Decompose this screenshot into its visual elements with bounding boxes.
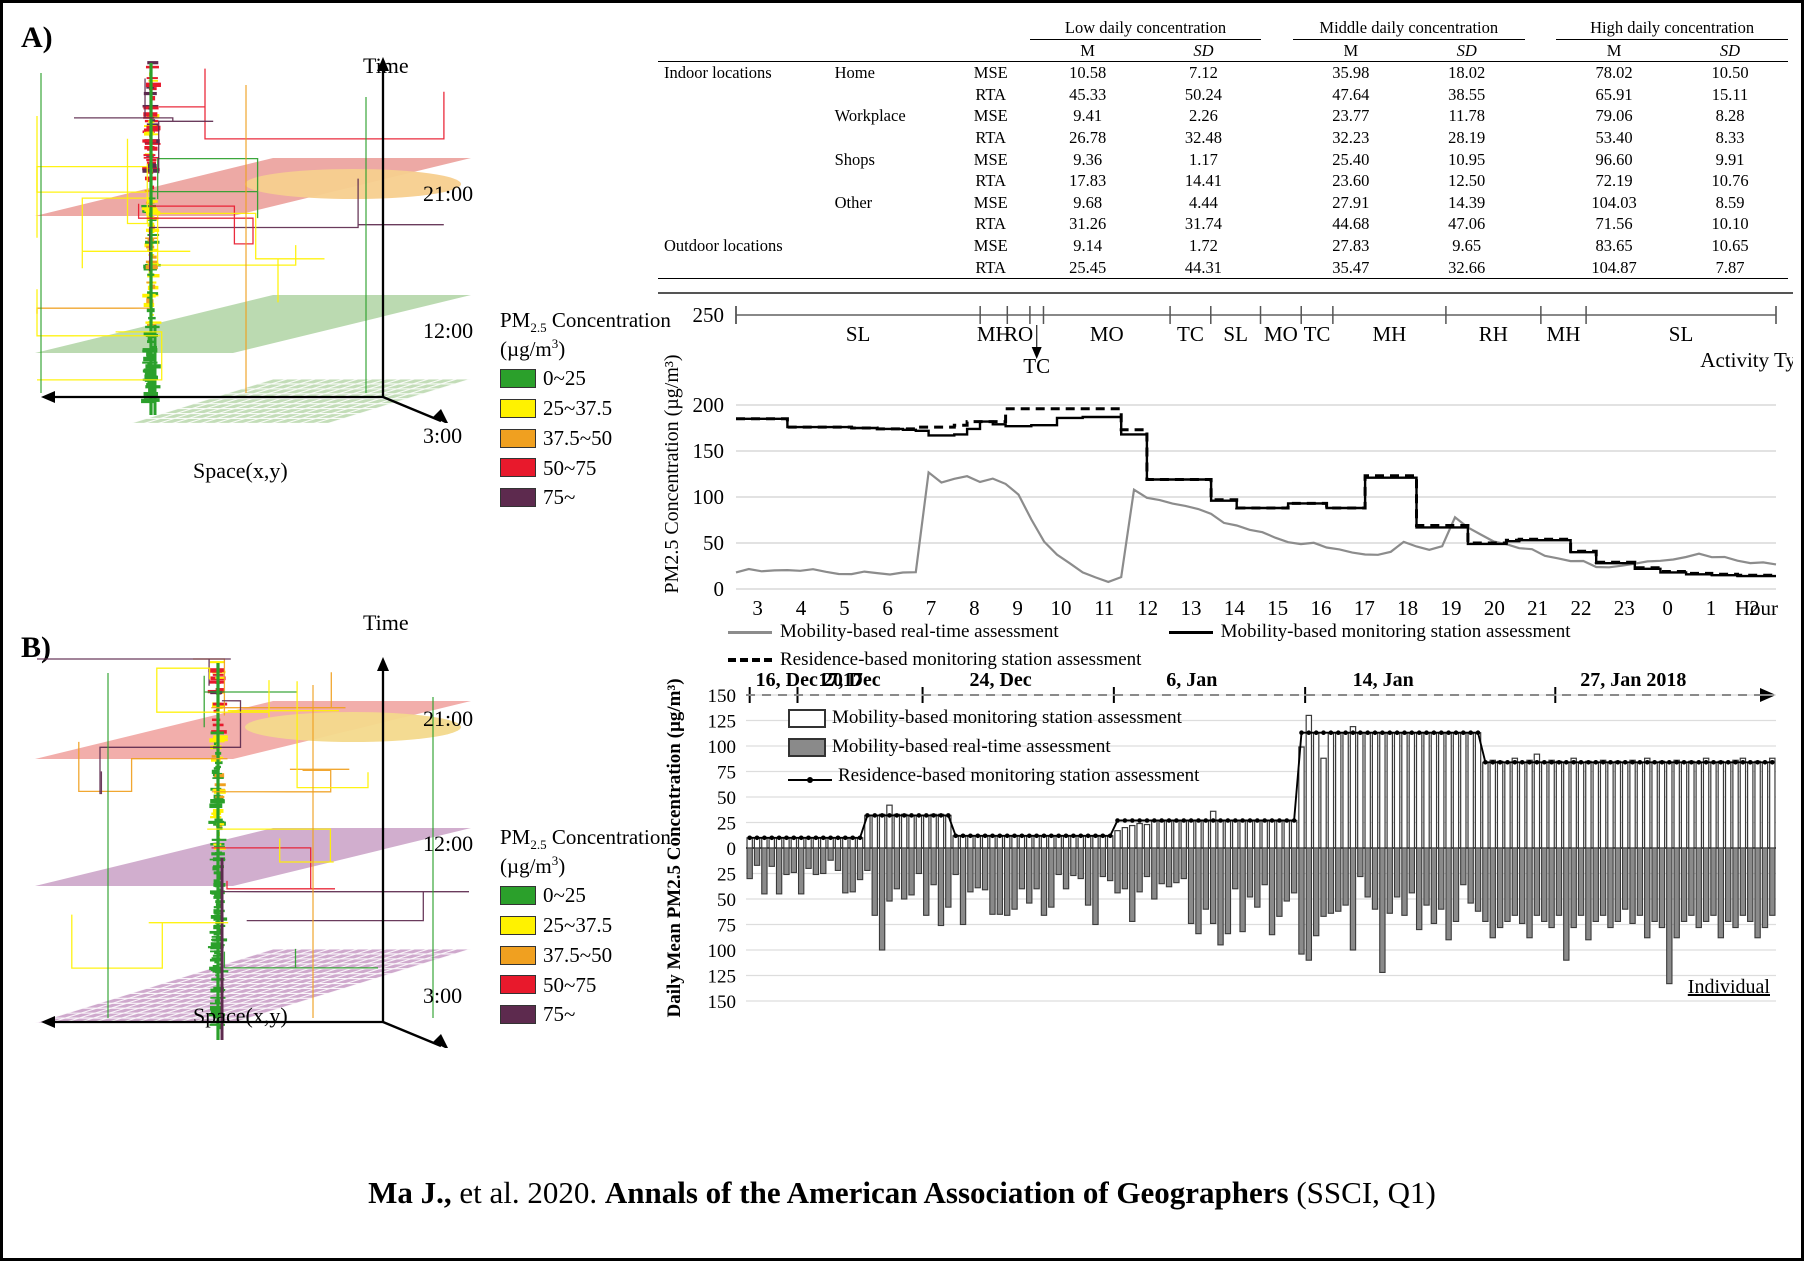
bar-monitoring-station	[1755, 761, 1760, 848]
residence-dot	[1446, 730, 1451, 735]
legend-swatch-black-line	[1169, 631, 1213, 634]
bar-real-time	[806, 848, 811, 868]
bar-real-time	[1424, 848, 1429, 905]
table-row: RTA26.7832.4832.2328.1953.408.33	[658, 127, 1788, 149]
legend-item-bar-residence: Residence-based monitoring station asses…	[788, 765, 1199, 787]
residence-dot	[1719, 760, 1724, 765]
table-cell-location: Shops	[829, 149, 952, 171]
bar-monitoring-station	[1497, 761, 1502, 848]
table-subheader: SD	[1146, 39, 1262, 62]
bar-monitoring-station	[1674, 760, 1679, 848]
bar-monitoring-station	[1696, 762, 1701, 848]
table-row: RTA25.4544.3135.4732.66104.877.87	[658, 257, 1788, 279]
table-cell-category: Outdoor locations	[658, 235, 829, 257]
bar-real-time	[1431, 848, 1436, 923]
table-cell-value: 9.14	[1030, 235, 1146, 257]
residence-dot	[1285, 818, 1290, 823]
bar-real-time	[1108, 848, 1113, 881]
bar-chart-ytick-top: 75	[717, 763, 736, 784]
table-cell-value: 10.50	[1672, 62, 1788, 84]
table-cell-value: 10.95	[1409, 149, 1525, 171]
bar-real-time	[1343, 848, 1348, 905]
table-cell-method: RTA	[952, 257, 1030, 279]
bar-chart-ytick-bottom: 75	[717, 916, 736, 937]
bar-real-time	[1269, 848, 1274, 935]
bar-monitoring-station	[1748, 762, 1753, 848]
residence-dot	[1351, 730, 1356, 735]
residence-dot	[1755, 760, 1760, 765]
legend-swatch-dashed-line	[728, 658, 772, 662]
bar-real-time	[1166, 848, 1171, 887]
residence-dot	[1557, 760, 1562, 765]
pm-legend-swatch-4	[500, 1005, 536, 1024]
bar-chart-date-label: 14, Jan	[1353, 671, 1414, 691]
bar-real-time	[821, 848, 826, 874]
residence-dot	[1586, 760, 1591, 765]
caption-year: et al. 2020.	[452, 1175, 605, 1210]
residence-dot	[799, 836, 804, 841]
table-cell-value: 28.19	[1409, 127, 1525, 149]
bar-chart-ytick-top: 100	[708, 737, 737, 758]
residence-dot	[1321, 730, 1326, 735]
bar-real-time	[1608, 848, 1613, 928]
residence-dot	[1196, 818, 1201, 823]
table-cell-value: 44.31	[1146, 257, 1262, 279]
residence-dot	[1115, 818, 1120, 823]
line-chart-xtick: 14	[1224, 596, 1246, 620]
pm-legend-swatch-2	[500, 946, 536, 965]
table-cell-location: Workplace	[829, 105, 952, 127]
bar-real-time	[1100, 848, 1105, 877]
table-cell-value: 9.36	[1030, 149, 1146, 171]
pm-legend-swatch-2	[500, 429, 536, 448]
bar-monitoring-station	[1564, 762, 1569, 848]
residence-dot	[1417, 730, 1422, 735]
bar-monitoring-station	[1439, 733, 1444, 848]
bar-real-time	[1137, 848, 1142, 892]
bar-real-time	[1247, 848, 1252, 897]
bar-real-time	[1689, 848, 1694, 915]
residence-dot	[1711, 760, 1716, 765]
table-cell-value: 10.65	[1672, 235, 1788, 257]
residence-dot	[1527, 760, 1532, 765]
table-cell-value: 18.02	[1409, 62, 1525, 84]
table-cell-value: 9.91	[1672, 149, 1788, 171]
table-cell-value: 9.41	[1030, 105, 1146, 127]
residence-dot	[1373, 730, 1378, 735]
residence-dot	[931, 813, 936, 818]
table-cell-value: 25.40	[1293, 149, 1409, 171]
bar-monitoring-station	[872, 815, 877, 848]
residence-dot	[1262, 818, 1267, 823]
residence-dot	[1476, 730, 1481, 735]
bar-real-time	[894, 848, 899, 889]
residence-dot	[1108, 834, 1113, 839]
bar-real-time	[769, 848, 774, 866]
table-cell-value: 47.06	[1409, 213, 1525, 235]
table-cell-category	[658, 105, 829, 127]
pm-legend-item: 50~75	[500, 456, 671, 481]
line-chart-xtick: 16	[1311, 596, 1332, 620]
legend-label: Mobility-based real-time assessment	[832, 736, 1111, 758]
residence-dot	[1645, 760, 1650, 765]
bar-monitoring-station	[1615, 761, 1620, 848]
residence-dot	[1380, 730, 1385, 735]
bar-real-time	[997, 848, 1002, 914]
bar-monitoring-station	[887, 805, 892, 848]
pm-legend-item: 25~37.5	[500, 396, 671, 421]
table-cell-value: 31.74	[1146, 213, 1262, 235]
bar-monitoring-station	[931, 814, 936, 848]
bar-real-time	[1387, 848, 1392, 913]
bar-monitoring-station	[1468, 733, 1473, 848]
line-chart-xtick: 5	[839, 596, 850, 620]
residence-dot	[1660, 760, 1665, 765]
residence-dot	[1402, 730, 1407, 735]
bar-monitoring-station	[916, 815, 921, 848]
bar-chart-ytick-bottom: 100	[708, 941, 737, 962]
residence-dot	[946, 813, 951, 818]
residence-dot	[850, 836, 855, 841]
bar-real-time	[1593, 848, 1598, 921]
bar-monitoring-station	[1578, 762, 1583, 848]
residence-dot	[1005, 834, 1010, 839]
panel-a-time-axis-label: Time	[363, 53, 409, 79]
table-cell-value: 50.24	[1146, 84, 1262, 106]
table-cell-method: MSE	[952, 149, 1030, 171]
bar-monitoring-station	[1586, 761, 1591, 848]
residence-dot	[747, 836, 752, 841]
bar-monitoring-station	[1358, 733, 1363, 848]
bar-monitoring-station	[1483, 762, 1488, 848]
legend-item-real-time: Mobility-based real-time assessment	[728, 621, 1059, 643]
bar-monitoring-station	[1181, 820, 1186, 848]
line-chart-xtick: 12	[1137, 596, 1158, 620]
bar-monitoring-station	[1490, 760, 1495, 848]
bar-real-time	[1328, 848, 1333, 913]
pm-legend-swatch-0	[500, 369, 536, 388]
table-cell-location: Home	[829, 62, 952, 84]
residence-dot	[1630, 760, 1635, 765]
bar-real-time	[1461, 848, 1466, 885]
bar-real-time	[1019, 848, 1024, 889]
bar-real-time	[1696, 848, 1701, 928]
bar-monitoring-station	[1571, 758, 1576, 848]
residence-dot	[1086, 834, 1091, 839]
bar-monitoring-station	[1233, 820, 1238, 848]
residence-dot	[983, 834, 988, 839]
table-cell-location	[829, 213, 952, 235]
bar-monitoring-station	[1137, 824, 1142, 848]
residence-dot	[828, 836, 833, 841]
table-row: Outdoor locationsMSE9.141.7227.839.6583.…	[658, 235, 1788, 257]
bar-chart-ytick-bottom: 25	[717, 865, 736, 886]
bar-monitoring-station	[938, 814, 943, 848]
bar-monitoring-station	[1328, 733, 1333, 848]
bar-real-time	[1556, 848, 1561, 915]
bar-real-time	[1321, 848, 1326, 916]
table-cell-value: 26.78	[1030, 127, 1146, 149]
residence-dot	[1733, 760, 1738, 765]
bar-real-time	[872, 848, 877, 915]
stats-table: Low daily concentrationMiddle daily conc…	[658, 17, 1788, 279]
line-chart-xtick: 11	[1094, 596, 1114, 620]
line-chart-xtick: 3	[752, 596, 763, 620]
bar-real-time	[879, 848, 884, 950]
bar-real-time	[1711, 848, 1716, 915]
bar-real-time	[1350, 848, 1355, 950]
residence-dot	[1255, 818, 1260, 823]
residence-dot	[1027, 834, 1032, 839]
bar-monitoring-station	[1718, 761, 1723, 848]
bar-real-time	[1762, 848, 1767, 928]
line-chart-xtick: 18	[1397, 596, 1418, 620]
residence-dot	[1093, 834, 1098, 839]
bar-real-time	[1497, 848, 1502, 928]
caption-index: (SSCI, Q1)	[1289, 1175, 1436, 1210]
panel-b-time-tick-2100: 21:00	[423, 706, 473, 732]
bar-monitoring-station	[1122, 828, 1127, 848]
table-subheader: M	[1293, 39, 1409, 62]
bar-monitoring-station	[1166, 820, 1171, 848]
pm-legend-item: 75~	[500, 485, 671, 510]
residence-dot	[1314, 730, 1319, 735]
residence-dot	[887, 813, 892, 818]
bar-monitoring-station	[1394, 733, 1399, 848]
bar-real-time	[1291, 848, 1296, 893]
line-chart-ytick: 100	[693, 485, 725, 509]
bar-real-time	[1306, 848, 1311, 960]
residence-dot	[1049, 834, 1054, 839]
table-cell-value: 14.39	[1409, 192, 1525, 214]
activity-segment-label: SL	[1669, 322, 1694, 346]
bar-real-time	[843, 848, 848, 893]
bar-real-time	[1586, 848, 1591, 940]
bar-real-time	[784, 848, 789, 875]
bar-chart-date-label: 6, Jan	[1166, 671, 1217, 691]
table-cell-value: 96.60	[1556, 149, 1672, 171]
table-cell-value: 31.26	[1030, 213, 1146, 235]
table-cell-category	[658, 213, 829, 235]
line-chart-xtick: 22	[1571, 596, 1592, 620]
residence-dot	[1424, 730, 1429, 735]
bar-real-time	[1314, 848, 1319, 936]
bar-real-time	[1564, 848, 1569, 960]
residence-dot	[1130, 818, 1135, 823]
bar-real-time	[1225, 848, 1230, 934]
bar-chart-date-label: 27, Jan 2018	[1580, 671, 1686, 691]
bar-monitoring-station	[1130, 826, 1135, 848]
bar-monitoring-station	[1689, 761, 1694, 848]
pm-legend-title: PM2.5 Concentration	[500, 308, 671, 336]
bar-real-time	[902, 848, 907, 899]
bar-real-time	[1012, 848, 1017, 909]
bar-real-time	[1240, 848, 1245, 932]
bar-real-time	[1380, 848, 1385, 972]
bar-monitoring-station	[1424, 733, 1429, 848]
bar-real-time	[931, 848, 936, 885]
bar-monitoring-station	[1623, 762, 1628, 848]
pm-legend-label: 0~25	[543, 883, 586, 908]
residence-dot	[1240, 818, 1245, 823]
residence-dot	[1137, 818, 1142, 823]
pm-legend-swatch-3	[500, 975, 536, 994]
table-cell-value: 32.23	[1293, 127, 1409, 149]
pm-legend-swatch-4	[500, 488, 536, 507]
residence-dot	[1277, 818, 1282, 823]
residence-dot	[1638, 760, 1643, 765]
pm-legend-label: 75~	[543, 485, 575, 510]
table-group-header: Middle daily concentration	[1293, 17, 1525, 39]
bar-real-time	[909, 848, 914, 895]
table-group-header: Low daily concentration	[1030, 17, 1262, 39]
bar-real-time	[1233, 848, 1238, 889]
table-cell-value: 65.91	[1556, 84, 1672, 106]
residence-dot	[784, 836, 789, 841]
residence-dot	[1034, 834, 1039, 839]
bar-real-time	[1181, 848, 1186, 879]
bar-monitoring-station	[1262, 820, 1267, 848]
pm-legend-swatch-1	[500, 916, 536, 935]
table-cell-value: 8.33	[1672, 127, 1788, 149]
residence-dot	[1535, 760, 1540, 765]
daily-mean-bar-chart: 16, Dec 201717, Dec24, Dec6, Jan14, Jan2…	[658, 671, 1793, 1031]
bar-monitoring-station	[1527, 760, 1532, 848]
pm-legend-item: 0~25	[500, 883, 671, 908]
activity-segment-label: MO	[1264, 322, 1298, 346]
bar-real-time	[1637, 848, 1642, 915]
bar-monitoring-station	[1115, 831, 1120, 848]
table-cell-location	[829, 84, 952, 106]
bar-real-time	[1468, 848, 1473, 903]
residence-dot	[1689, 760, 1694, 765]
bar-real-time	[1063, 848, 1068, 889]
pm-legend-swatch-1	[500, 399, 536, 418]
bar-monitoring-station	[1225, 820, 1230, 848]
table-cell-value: 32.48	[1146, 127, 1262, 149]
figure-caption: Ma J., et al. 2020. Annals of the Americ…	[3, 1175, 1801, 1211]
bar-real-time	[1512, 848, 1517, 915]
bar-monitoring-station	[1475, 733, 1480, 848]
table-cell-value: 17.83	[1030, 170, 1146, 192]
bar-real-time	[1520, 848, 1525, 923]
bar-real-time	[1130, 848, 1135, 921]
bar-monitoring-station	[1726, 762, 1731, 848]
residence-dot	[1763, 760, 1768, 765]
panel-b-space-axis-label: Space(x,y)	[193, 1003, 288, 1029]
residence-dot	[1233, 818, 1238, 823]
bar-monitoring-station	[1321, 758, 1326, 848]
space-time-cube-b	[23, 653, 483, 1048]
bar-chart-y-axis-title: Daily Mean PM2.5 Concentration (µg/m³)	[664, 678, 685, 1017]
table-cell-value: 35.47	[1293, 257, 1409, 279]
bar-real-time	[1122, 848, 1127, 889]
residence-dot	[1513, 760, 1518, 765]
panel-b-time-axis-label: Time	[363, 610, 409, 636]
bar-monitoring-station	[1431, 733, 1436, 848]
residence-dot	[1174, 818, 1179, 823]
bar-real-time	[1600, 848, 1605, 915]
table-subheader: SD	[1409, 39, 1525, 62]
line-chart-ytick-250: 250	[693, 303, 725, 327]
bar-real-time	[1056, 848, 1061, 875]
bar-monitoring-station	[1512, 758, 1517, 848]
bar-real-time	[1049, 848, 1054, 907]
bar-real-time	[850, 848, 855, 892]
line-chart-xtick: 8	[969, 596, 980, 620]
residence-dot	[953, 834, 958, 839]
bar-real-time	[1549, 848, 1554, 928]
residence-dot	[1152, 818, 1157, 823]
residence-dot	[843, 836, 848, 841]
line-chart-xtick: 23	[1614, 596, 1635, 620]
line-chart-xtick: 9	[1012, 596, 1023, 620]
panel-b-time-tick-1200: 12:00	[423, 831, 473, 857]
residence-dot	[1432, 730, 1437, 735]
residence-dot	[895, 813, 900, 818]
table-cell-value: 53.40	[1556, 127, 1672, 149]
legend-item-bar-realtime: Mobility-based real-time assessment	[788, 736, 1199, 758]
residence-dot	[836, 836, 841, 841]
table-cell-value: 47.64	[1293, 84, 1409, 106]
bar-real-time	[1490, 848, 1495, 938]
table-cell-value: 7.87	[1672, 257, 1788, 279]
legend-swatch-gray-box	[788, 738, 826, 757]
table-group-header: High daily concentration	[1556, 17, 1788, 39]
table-cell-category	[658, 170, 829, 192]
bar-real-time	[1203, 848, 1208, 909]
table-cell-value: 27.91	[1293, 192, 1409, 214]
residence-dot	[1159, 818, 1164, 823]
line-chart-xtick: 17	[1354, 596, 1375, 620]
bar-real-time	[762, 848, 767, 894]
table-cell-value: 32.66	[1409, 257, 1525, 279]
line-chart-ytick: 0	[714, 577, 725, 601]
table-cell-value: 7.12	[1146, 62, 1262, 84]
bar-real-time	[924, 848, 929, 915]
residence-dot	[1616, 760, 1621, 765]
bar-monitoring-station	[1247, 820, 1252, 848]
table-row: RTA31.2631.7444.6847.0671.5610.10	[658, 213, 1788, 235]
residence-dot	[1012, 834, 1017, 839]
caption-journal: Annals of the American Association of Ge…	[605, 1175, 1289, 1210]
bar-monitoring-station	[1681, 762, 1686, 848]
table-cell-value: 11.78	[1409, 105, 1525, 127]
bar-monitoring-station	[909, 815, 914, 848]
bar-chart-ytick-bottom: 125	[708, 967, 737, 988]
bar-monitoring-station	[1446, 733, 1451, 848]
residence-dot	[1358, 730, 1363, 735]
residence-dot	[939, 813, 944, 818]
residence-dot	[1042, 834, 1047, 839]
bar-real-time	[1372, 848, 1377, 909]
bar-real-time	[1336, 848, 1341, 911]
table-row: WorkplaceMSE9.412.2623.7711.7879.068.28	[658, 105, 1788, 127]
bar-monitoring-station	[1409, 733, 1414, 848]
bar-real-time	[1409, 848, 1414, 893]
residence-dot	[924, 813, 929, 818]
residence-dot	[1336, 730, 1341, 735]
pm-legend-units: (µg/m3)	[500, 853, 671, 879]
line-chart-xtick: 10	[1051, 596, 1072, 620]
table-cell-value: 45.33	[1030, 84, 1146, 106]
residence-dot	[1726, 760, 1731, 765]
bar-real-time	[938, 848, 943, 926]
bar-real-time	[916, 848, 921, 874]
residence-dot	[1123, 818, 1128, 823]
bar-monitoring-station	[1277, 820, 1282, 848]
bar-monitoring-station	[1314, 733, 1319, 848]
